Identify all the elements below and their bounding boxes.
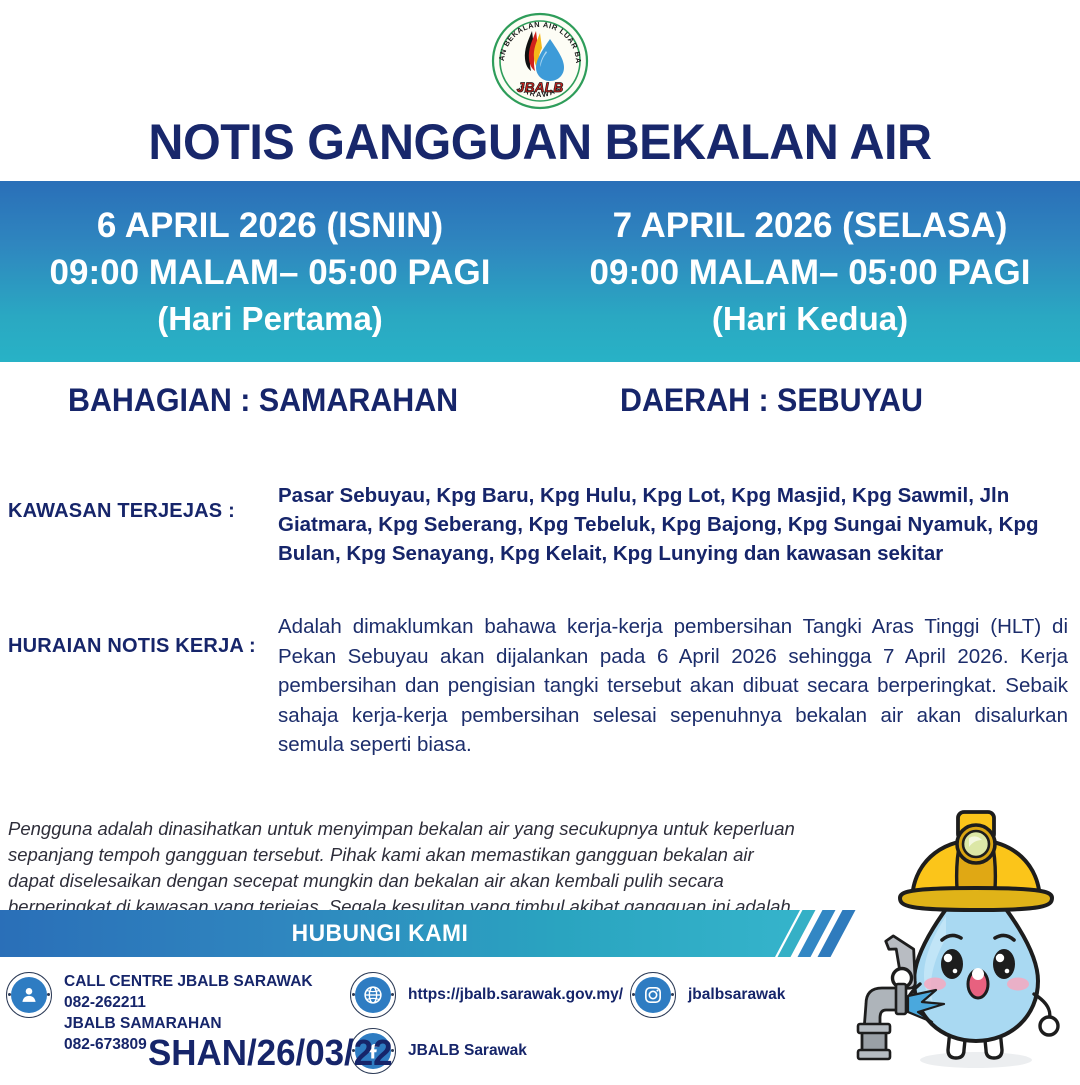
affected-areas-value: Pasar Sebuyau, Kpg Baru, Kpg Hulu, Kpg L… <box>278 481 1068 568</box>
call-centre-name: CALL CENTRE JBALB SARAWAK <box>64 971 313 993</box>
water-disruption-notice-poster: JABATAN BEKALAN AIR LUAR BANDAR SARAWAK … <box>0 0 1080 1080</box>
logo-container: JABATAN BEKALAN AIR LUAR BANDAR SARAWAK … <box>0 8 1080 114</box>
water-droplet-mascot <box>852 798 1080 1080</box>
contact-banner-title: HUBUNGI KAMI <box>19 910 741 957</box>
facebook-page[interactable]: JBALB Sarawak <box>408 1040 527 1062</box>
globe-glyph <box>362 984 384 1006</box>
schedule-day-label: (Hari Pertama) <box>157 296 383 341</box>
person-glyph <box>18 984 40 1006</box>
schedule-day-1: 6 APRIL 2026 (ISNIN) 09:00 MALAM– 05:00 … <box>0 181 540 362</box>
affected-areas-label: KAWASAN TERJEJAS : <box>8 500 235 523</box>
region-row: BAHAGIAN : SAMARAHAN DAERAH : SEBUYAU <box>0 382 1080 430</box>
jbalb-logo: JABATAN BEKALAN AIR LUAR BANDAR SARAWAK … <box>488 9 592 113</box>
instagram-handle[interactable]: jbalbsarawak <box>688 984 785 1006</box>
branch-phone[interactable]: 082-673809 <box>64 1034 147 1056</box>
website-url[interactable]: https://jbalb.sarawak.gov.my/ <box>408 984 623 1006</box>
schedule-time: 09:00 MALAM– 05:00 PAGI <box>50 249 491 296</box>
globe-icon[interactable] <box>350 972 396 1018</box>
instagram-icon[interactable] <box>630 972 676 1018</box>
jbalb-logo-icon: JABATAN BEKALAN AIR LUAR BANDAR SARAWAK … <box>488 9 592 113</box>
svg-text:JBALB: JBALB <box>517 79 564 95</box>
schedule-date: 7 APRIL 2026 (SELASA) <box>613 202 1008 249</box>
work-description-label: HURAIAN NOTIS KERJA : <box>8 635 256 658</box>
schedule-time: 09:00 MALAM– 05:00 PAGI <box>590 249 1031 296</box>
instagram-glyph <box>642 984 664 1006</box>
reference-code: SHAN/26/03/22 <box>148 1032 393 1074</box>
schedule-day-2: 7 APRIL 2026 (SELASA) 09:00 MALAM– 05:00… <box>540 181 1080 362</box>
division-label: BAHAGIAN : SAMARAHAN <box>68 382 458 419</box>
call-centre-phone[interactable]: 082-262211 <box>64 992 146 1014</box>
schedule-day-label: (Hari Kedua) <box>712 296 908 341</box>
district-label: DAERAH : SEBUYAU <box>620 382 923 419</box>
work-description-value: Adalah dimaklumkan bahawa kerja-kerja pe… <box>278 612 1068 760</box>
schedule-date: 6 APRIL 2026 (ISNIN) <box>97 202 443 249</box>
schedule-band: 6 APRIL 2026 (ISNIN) 09:00 MALAM– 05:00 … <box>0 181 1080 362</box>
person-icon <box>6 972 52 1018</box>
mascot-illustration <box>852 798 1080 1080</box>
